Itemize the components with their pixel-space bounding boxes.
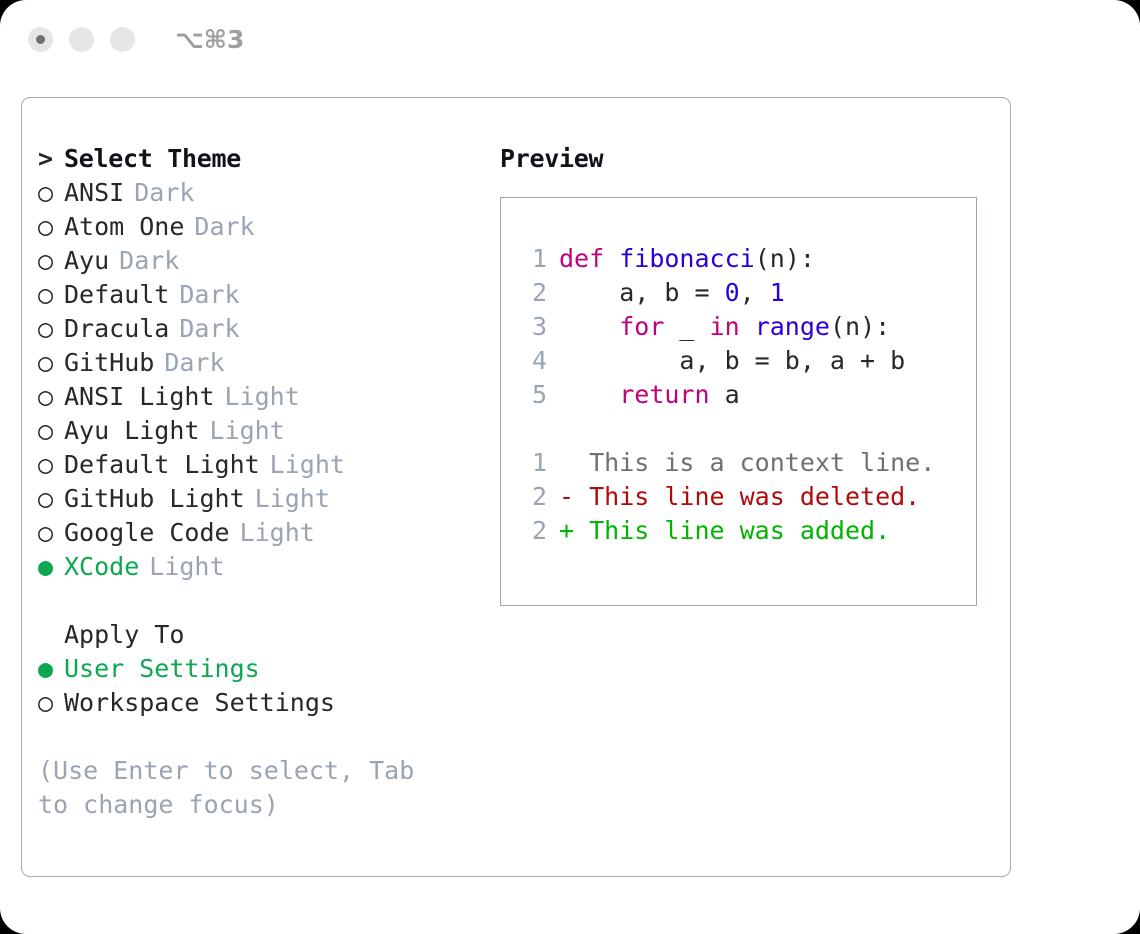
radio-unselected-icon: ○ [38, 278, 64, 312]
code-token: 0 [725, 278, 740, 307]
theme-list-item[interactable]: ○Google CodeLight [38, 516, 498, 550]
code-token: def [559, 244, 619, 273]
code-line-text: return a [547, 378, 740, 412]
window-control-close[interactable] [28, 27, 53, 52]
code-token: n [770, 244, 785, 273]
theme-list-item[interactable]: ○ANSIDark [38, 176, 498, 210]
apply-to-label: User Settings [64, 654, 260, 683]
theme-list-item[interactable]: ○GitHubDark [38, 346, 498, 380]
theme-variant-badge: Dark [179, 280, 239, 309]
theme-list-item[interactable]: ○DefaultDark [38, 278, 498, 312]
code-diff-separator [501, 412, 976, 446]
line-number: 4 [501, 344, 547, 378]
preview-title: Preview [500, 142, 1000, 176]
code-token: for [619, 312, 664, 341]
window-controls [28, 27, 135, 52]
radio-unselected-icon: ○ [38, 312, 64, 346]
code-line: 1def fibonacci(n): [501, 242, 976, 276]
code-token: a, b = [559, 278, 725, 307]
theme-name: Google Code [64, 518, 230, 547]
code-line: 5 return a [501, 378, 976, 412]
radio-unselected-icon: ○ [38, 448, 64, 482]
theme-name: Default Light [64, 450, 260, 479]
diff-line-text: + This line was added. [547, 514, 890, 548]
apply-to-label: Workspace Settings [64, 688, 335, 717]
line-number: 5 [501, 378, 547, 412]
theme-list-item[interactable]: ○AyuDark [38, 244, 498, 278]
theme-list-item[interactable]: ○Atom OneDark [38, 210, 498, 244]
radio-unselected-icon: ○ [38, 482, 64, 516]
line-number: 1 [501, 446, 547, 480]
code-line-text: for _ in range(n): [547, 310, 890, 344]
theme-name: ANSI [64, 178, 124, 207]
line-number: 1 [501, 242, 547, 276]
radio-selected-icon: ● [38, 550, 64, 584]
radio-unselected-icon: ○ [38, 210, 64, 244]
theme-variant-badge: Light [149, 552, 224, 581]
theme-name: Dracula [64, 314, 169, 343]
prompt-caret-icon: > [38, 142, 64, 176]
theme-list-item[interactable]: ○GitHub LightLight [38, 482, 498, 516]
theme-variant-badge: Dark [119, 246, 179, 275]
title-bar: ⌥⌘3 [0, 0, 1140, 78]
radio-unselected-icon: ○ [38, 380, 64, 414]
radio-unselected-icon: ○ [38, 244, 64, 278]
theme-name: Ayu Light [64, 416, 199, 445]
preview-column: Preview 1def fibonacci(n):2 a, b = 0, 13… [500, 142, 1000, 606]
diff-line: 2- This line was deleted. [501, 480, 976, 514]
theme-name: Atom One [64, 212, 184, 241]
theme-list-item[interactable]: ●XCodeLight [38, 550, 498, 584]
app-window: ⌥⌘3 >Select Theme ○ANSIDark○Atom OneDark… [0, 0, 1140, 934]
theme-list-item[interactable]: ○Default LightLight [38, 448, 498, 482]
theme-picker-heading: >Select Theme [38, 142, 498, 176]
keyboard-hint-text: (Use Enter to select, Tab to change focu… [38, 754, 448, 822]
theme-list-item[interactable]: ○DraculaDark [38, 312, 498, 346]
theme-list-item[interactable]: ○Ayu LightLight [38, 414, 498, 448]
code-token: (n): [830, 312, 890, 341]
code-token: range [755, 312, 830, 341]
code-line-text: a, b = b, a + b [547, 344, 905, 378]
code-sample: 1def fibonacci(n):2 a, b = 0, 13 for _ i… [501, 242, 976, 412]
diff-sample: 1 This is a context line.2- This line wa… [501, 446, 976, 548]
code-token: , [740, 278, 770, 307]
code-line: 3 for _ in range(n): [501, 310, 976, 344]
radio-unselected-icon: ○ [38, 414, 64, 448]
theme-variant-badge: Dark [164, 348, 224, 377]
code-token: in [710, 312, 740, 341]
code-line: 4 a, b = b, a + b [501, 344, 976, 378]
theme-name: Ayu [64, 246, 109, 275]
code-token: a, b = b, a + b [559, 346, 905, 375]
keyboard-shortcut-label: ⌥⌘3 [175, 25, 244, 54]
radio-selected-icon: ● [38, 652, 64, 686]
apply-to-list: ●User Settings○Workspace Settings [38, 652, 498, 720]
code-token: 1 [770, 278, 785, 307]
diff-line: 2+ This line was added. [501, 514, 976, 548]
theme-variant-badge: Light [209, 416, 284, 445]
code-token: fibonacci [619, 244, 754, 273]
theme-variant-badge: Dark [134, 178, 194, 207]
theme-variant-badge: Dark [194, 212, 254, 241]
main-panel: >Select Theme ○ANSIDark○Atom OneDark○Ayu… [21, 97, 1011, 877]
radio-unselected-icon: ○ [38, 516, 64, 550]
code-token: a [710, 380, 740, 409]
theme-name: ANSI Light [64, 382, 215, 411]
code-token: ): [785, 244, 815, 273]
code-line-text: def fibonacci(n): [547, 242, 815, 276]
theme-variant-badge: Dark [179, 314, 239, 343]
code-token [559, 312, 619, 341]
code-token [740, 312, 755, 341]
theme-variant-badge: Light [270, 450, 345, 479]
theme-variant-badge: Light [255, 484, 330, 513]
preview-box: 1def fibonacci(n):2 a, b = 0, 13 for _ i… [500, 197, 977, 606]
theme-list: ○ANSIDark○Atom OneDark○AyuDark○DefaultDa… [38, 176, 498, 584]
diff-line-text: This is a context line. [547, 446, 935, 480]
diff-line-text: - This line was deleted. [547, 480, 920, 514]
line-number: 2 [501, 480, 547, 514]
code-line: 2 a, b = 0, 1 [501, 276, 976, 310]
window-control-minimize[interactable] [69, 27, 94, 52]
code-token: _ [664, 312, 709, 341]
code-token: return [619, 380, 709, 409]
diff-line: 1 This is a context line. [501, 446, 976, 480]
theme-name: GitHub [64, 348, 154, 377]
apply-to-item[interactable]: ●User Settings [38, 652, 498, 686]
window-control-maximize[interactable] [110, 27, 135, 52]
theme-picker-column: >Select Theme ○ANSIDark○Atom OneDark○Ayu… [38, 142, 498, 822]
radio-unselected-icon: ○ [38, 176, 64, 210]
list-spacer [38, 584, 498, 618]
code-line-text: a, b = 0, 1 [547, 276, 785, 310]
radio-unselected-icon: ○ [38, 346, 64, 380]
theme-picker-heading-label: Select Theme [64, 144, 241, 173]
theme-list-item[interactable]: ○ANSI LightLight [38, 380, 498, 414]
code-token: ( [755, 244, 770, 273]
theme-variant-badge: Light [240, 518, 315, 547]
line-number: 2 [501, 514, 547, 548]
record-dot-icon [36, 35, 45, 44]
code-token [559, 380, 619, 409]
apply-to-heading: Apply To [38, 618, 498, 652]
theme-variant-badge: Light [225, 382, 300, 411]
theme-name: XCode [64, 552, 139, 581]
line-number: 3 [501, 310, 547, 344]
apply-to-item[interactable]: ○Workspace Settings [38, 686, 498, 720]
theme-name: Default [64, 280, 169, 309]
theme-name: GitHub Light [64, 484, 245, 513]
line-number: 2 [501, 276, 547, 310]
radio-unselected-icon: ○ [38, 686, 64, 720]
